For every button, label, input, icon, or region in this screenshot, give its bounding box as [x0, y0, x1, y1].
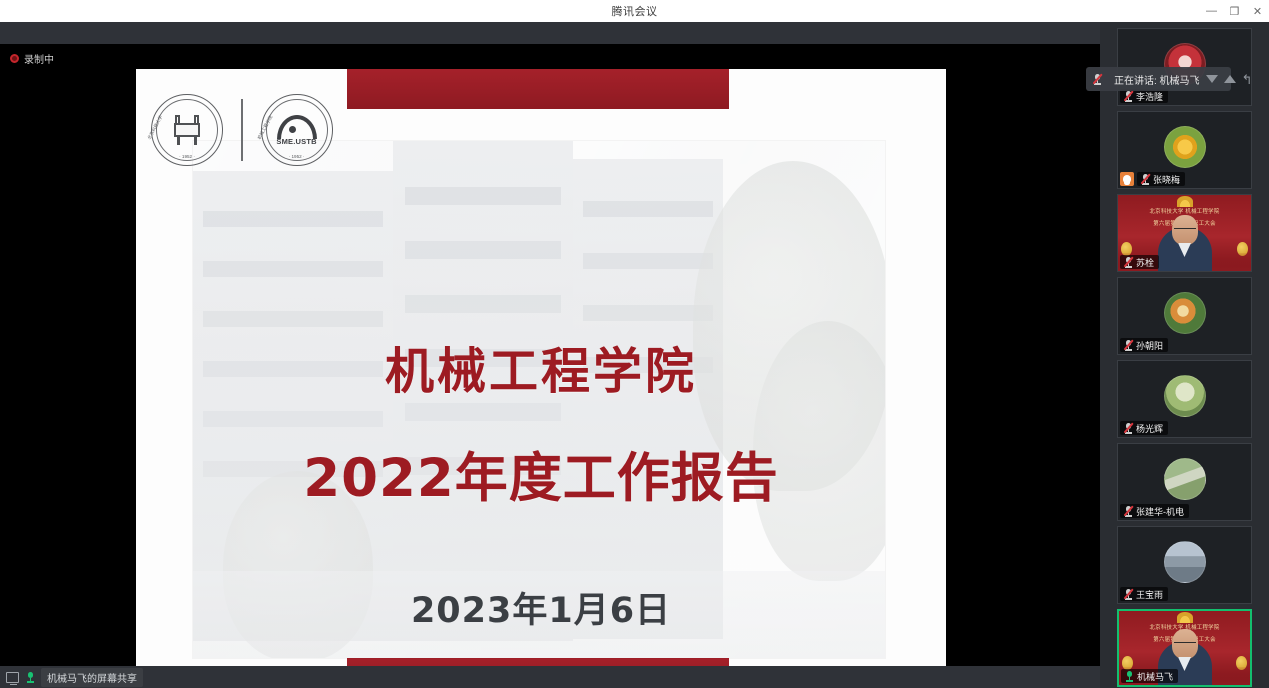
bird-mark-icon — [277, 115, 317, 139]
sme-mark-text: SME.USTB — [261, 137, 333, 146]
mic-muted-icon — [1123, 91, 1133, 102]
collapse-icon[interactable]: ↰ — [1242, 73, 1253, 86]
avatar — [1164, 292, 1206, 334]
recording-indicator: 录制中 — [10, 51, 54, 66]
chevron-up-icon[interactable] — [1206, 75, 1218, 83]
mic-muted-icon — [1123, 340, 1133, 351]
minimize-button[interactable]: — — [1200, 0, 1223, 22]
participant-namebar: 张晓梅 — [1137, 172, 1185, 186]
participant-namebar: 王宝雨 — [1120, 587, 1168, 601]
sme-ustb-seal-logo: 机械工程学院 SME.USTB · 1952 · — [261, 94, 333, 166]
participant-name: 机械马飞 — [1137, 670, 1173, 683]
active-speaker-toast: 正在讲话: 机械马飞 ↰ — [1086, 67, 1231, 91]
record-dot-icon — [10, 54, 19, 63]
participant-namebar: 李浩隆 — [1120, 89, 1168, 103]
avatar — [1164, 375, 1206, 417]
slide-top-red-bar — [347, 69, 729, 109]
logo-divider — [241, 99, 243, 161]
slide-title-line1: 机械工程学院 — [136, 332, 946, 403]
mic-muted-icon — [1123, 506, 1133, 517]
host-person-icon — [1123, 175, 1131, 183]
participant-name: 苏栓 — [1136, 256, 1154, 269]
window-titlebar: 腾讯会议 — ❐ ✕ — [0, 0, 1269, 22]
monitor-icon — [6, 672, 19, 683]
participant-rail[interactable]: 李浩隆张晓梅北京科技大学 机械工程学院第六届第二次教职工大会2023年1月6日苏… — [1100, 22, 1269, 688]
mic-muted-icon — [1123, 589, 1133, 600]
participant-name: 张建华-机电 — [1136, 505, 1184, 518]
share-status-label: 机械马飞的屏幕共享 — [41, 668, 143, 687]
participant-tile[interactable]: 孙朝阳 — [1117, 277, 1252, 355]
app-body: 录制中 — [0, 22, 1269, 688]
participant-tile[interactable]: 杨光辉 — [1117, 360, 1252, 438]
participant-tile[interactable]: 北京科技大学 机械工程学院第六届第二次教职工大会2023年1月6日苏栓 — [1117, 194, 1252, 272]
mic-muted-icon — [1140, 174, 1150, 185]
sme-seal-year: · 1952 · — [261, 154, 333, 159]
close-button[interactable]: ✕ — [1246, 0, 1269, 22]
participant-tile[interactable]: 北京科技大学 机械工程学院第六届第二次教职工大会2023年1月6日机械马飞 — [1117, 609, 1252, 687]
window-title: 腾讯会议 — [612, 3, 658, 19]
glasses-icon — [1174, 642, 1196, 647]
chevron-down-icon[interactable] — [1224, 75, 1236, 83]
ding-vessel-icon — [170, 115, 204, 145]
shared-screen-stage[interactable]: 录制中 — [0, 44, 1100, 666]
participant-namebar: 杨光辉 — [1120, 421, 1168, 435]
avatar — [1164, 126, 1206, 168]
host-badge — [1120, 172, 1134, 186]
participant-namebar: 张建华-机电 — [1120, 504, 1189, 518]
glasses-icon — [1174, 228, 1196, 233]
participant-tile[interactable]: 王宝雨 — [1117, 526, 1252, 604]
participant-namebar: 苏栓 — [1120, 255, 1159, 269]
participant-name: 张晓梅 — [1153, 173, 1180, 186]
active-speaker-label: 正在讲话: 机械马飞 — [1114, 72, 1200, 87]
stage-top-band — [0, 22, 1100, 44]
recording-label: 录制中 — [24, 51, 54, 66]
mic-muted-icon — [1123, 257, 1133, 268]
mic-on-icon — [25, 672, 35, 683]
participant-name: 李浩隆 — [1136, 90, 1163, 103]
ustb-seal-logo: 北京科技大学 · 1952 · — [151, 94, 223, 166]
avatar — [1164, 458, 1206, 500]
participant-namebar: 机械马飞 — [1121, 669, 1178, 683]
participant-name: 孙朝阳 — [1136, 339, 1163, 352]
mic-muted-icon — [1123, 423, 1133, 434]
participant-tile[interactable]: 张晓梅 — [1117, 111, 1252, 189]
share-status-bar: 机械马飞的屏幕共享 — [0, 666, 1100, 688]
maximize-button[interactable]: ❐ — [1223, 0, 1246, 22]
mic-on-icon — [1124, 671, 1134, 682]
avatar — [1164, 541, 1206, 583]
mic-muted-icon — [1092, 74, 1102, 85]
ustb-seal-year: · 1952 · — [151, 154, 223, 159]
participant-name: 王宝雨 — [1136, 588, 1163, 601]
participant-tile[interactable]: 张建华-机电 — [1117, 443, 1252, 521]
slide-logos: 北京科技大学 · 1952 · 机械工程学院 — [151, 94, 333, 166]
slide-date: 2023年1月6日 — [136, 582, 946, 633]
presentation-slide: 北京科技大学 · 1952 · 机械工程学院 — [136, 69, 946, 666]
slide-title-line2: 2022年度工作报告 — [136, 436, 946, 512]
participant-namebar: 孙朝阳 — [1120, 338, 1168, 352]
participant-name: 杨光辉 — [1136, 422, 1163, 435]
window-controls: — ❐ ✕ — [1200, 0, 1269, 22]
